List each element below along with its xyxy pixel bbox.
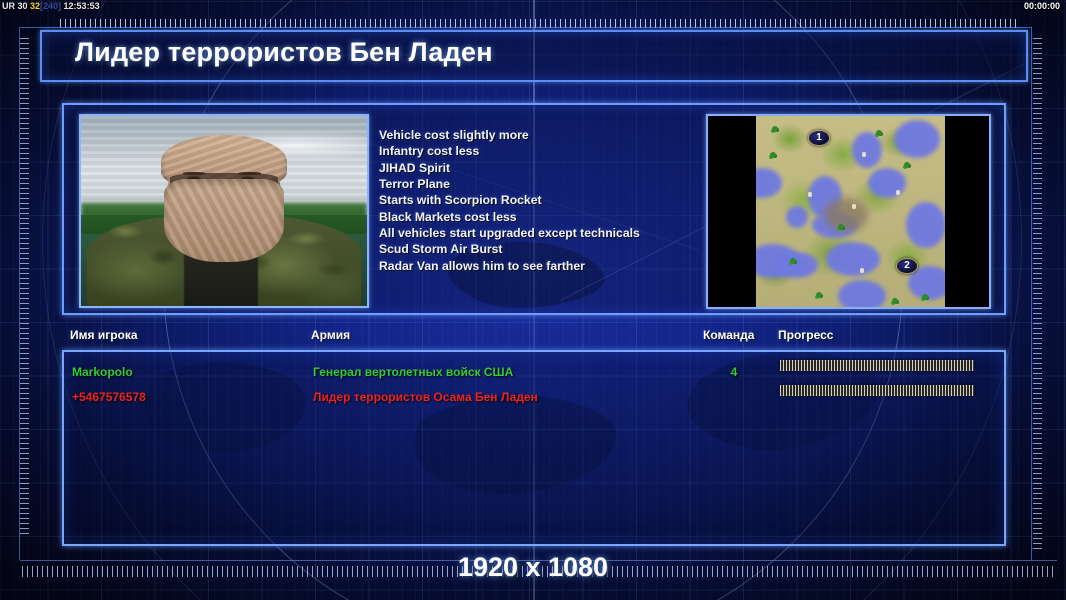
map-tree	[876, 130, 882, 136]
ruler-left	[20, 38, 29, 538]
map-water	[786, 206, 808, 228]
top-status-prefix: UR 30	[2, 1, 30, 11]
map-start-position-1: 1	[808, 130, 830, 146]
edge-line-left	[19, 27, 20, 560]
map-tree	[904, 162, 910, 168]
loading-screen-frame: Лидер террористов Бен Ладен Vehicle cost…	[40, 30, 1028, 558]
table-row[interactable]: Markopolo Генерал вертолетных войск США …	[64, 360, 1004, 384]
top-status-bracket: [240]	[40, 1, 61, 11]
column-header-army: Армия	[311, 328, 350, 342]
map-tree	[816, 292, 822, 298]
top-status-timer: 00:00:00	[1024, 0, 1060, 13]
table-row[interactable]: +5467576578 Лидер террористов Осама Бен …	[64, 385, 1004, 409]
player-army: Лидер террористов Осама Бен Ладен	[313, 385, 538, 409]
map-preview: 1 2	[706, 114, 991, 309]
player-list-panel: Markopolo Генерал вертолетных войск США …	[62, 350, 1006, 546]
progress-bar	[780, 385, 974, 396]
feature-item: Starts with Scorpion Rocket	[379, 192, 709, 208]
feature-item: Vehicle cost slightly more	[379, 127, 709, 143]
portrait-brow-left	[183, 172, 206, 175]
progress-bar	[780, 360, 974, 371]
player-name: Markopolo	[72, 360, 133, 384]
feature-item: Infantry cost less	[379, 143, 709, 159]
map-start-position-2: 2	[896, 258, 918, 274]
column-header-team: Команда	[703, 328, 754, 342]
title-panel: Лидер террористов Бен Ладен	[40, 30, 1028, 82]
top-status-highlight: 32	[30, 1, 40, 11]
map-prop	[896, 190, 900, 195]
map-water	[852, 132, 882, 168]
player-progress	[780, 385, 974, 397]
map-prop	[862, 152, 866, 157]
page-title: Лидер террористов Бен Ладен	[75, 37, 493, 68]
feature-item: All vehicles start upgraded except techn…	[379, 225, 709, 241]
column-header-progress: Прогресс	[778, 328, 833, 342]
top-status-bar: UR 30 32[240] 12:53:53 00:00:00	[0, 0, 1066, 13]
feature-item: JIHAD Spirit	[379, 160, 709, 176]
ruler-right	[1033, 38, 1042, 550]
edge-line-right	[1031, 27, 1032, 560]
map-water	[894, 120, 940, 158]
portrait-face-mask	[164, 179, 284, 263]
feature-item: Radar Van allows him to see farther	[379, 258, 709, 274]
feature-item: Black Markets cost less	[379, 209, 709, 225]
feature-item: Scud Storm Air Burst	[379, 241, 709, 257]
player-list-header: Имя игрока Армия Команда Прогресс	[62, 328, 1006, 348]
map-tree	[922, 294, 928, 300]
player-team: 4	[709, 360, 759, 384]
map-tree	[892, 298, 898, 304]
edge-line-top	[20, 27, 1032, 28]
map-prop	[808, 192, 812, 197]
top-status-time: 12:53:53	[61, 1, 100, 11]
feature-item: Terror Plane	[379, 176, 709, 192]
map-water	[868, 168, 906, 198]
player-army: Генерал вертолетных войск США	[313, 360, 513, 384]
resolution-label: 1920 x 1080	[0, 552, 1066, 583]
top-status-left: UR 30 32[240] 12:53:53	[2, 0, 100, 13]
column-header-name: Имя игрока	[70, 328, 138, 342]
map-water	[826, 242, 880, 276]
map-tree	[772, 126, 778, 132]
map-water	[838, 280, 886, 307]
map-preview-image: 1 2	[756, 116, 945, 307]
faction-portrait	[79, 114, 369, 308]
map-tree	[790, 258, 796, 264]
player-progress	[780, 360, 974, 372]
map-water	[906, 202, 945, 248]
faction-info-panel: Vehicle cost slightly more Infantry cost…	[62, 103, 1006, 315]
map-tree	[838, 224, 844, 230]
map-water	[774, 252, 818, 278]
map-dirt-patch	[824, 198, 868, 232]
player-name: +5467576578	[72, 385, 146, 409]
faction-feature-list: Vehicle cost slightly more Infantry cost…	[379, 127, 709, 274]
map-tree	[770, 152, 776, 158]
portrait-brow-right	[238, 172, 261, 175]
map-prop	[852, 204, 856, 209]
map-prop	[860, 268, 864, 273]
